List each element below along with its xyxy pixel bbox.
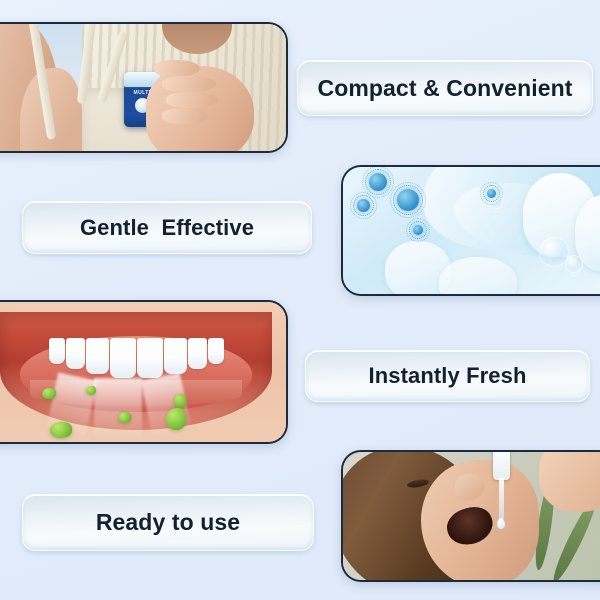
mint-particle-icon <box>166 408 186 430</box>
feature-label-gentle[interactable]: Gentle Effective <box>22 201 312 254</box>
collage-canvas: MULTI Compact & Convenient Gentle Effect… <box>0 0 600 600</box>
image-smile-with-mint-particles <box>0 300 288 444</box>
feature-label-fresh[interactable]: Instantly Fresh <box>305 350 590 402</box>
germ-particle-icon <box>413 225 423 235</box>
germ-particle-icon <box>357 199 370 212</box>
image-woman-holding-product-bottle: MULTI <box>0 22 288 153</box>
mint-particle-icon <box>42 388 56 399</box>
image-blue-water-germs-render <box>341 165 600 296</box>
dropper-icon <box>493 452 510 480</box>
image-woman-using-dropper <box>341 450 600 582</box>
mint-particle-icon <box>86 386 96 395</box>
germ-particle-icon <box>369 173 387 191</box>
germ-particle-icon <box>397 189 419 211</box>
mint-particle-icon <box>50 422 72 438</box>
mint-particle-icon <box>174 394 186 408</box>
feature-label-compact[interactable]: Compact & Convenient <box>297 60 593 116</box>
mint-particle-icon <box>118 412 131 423</box>
germ-particle-icon <box>487 189 496 198</box>
feature-label-ready[interactable]: Ready to use <box>22 494 314 551</box>
